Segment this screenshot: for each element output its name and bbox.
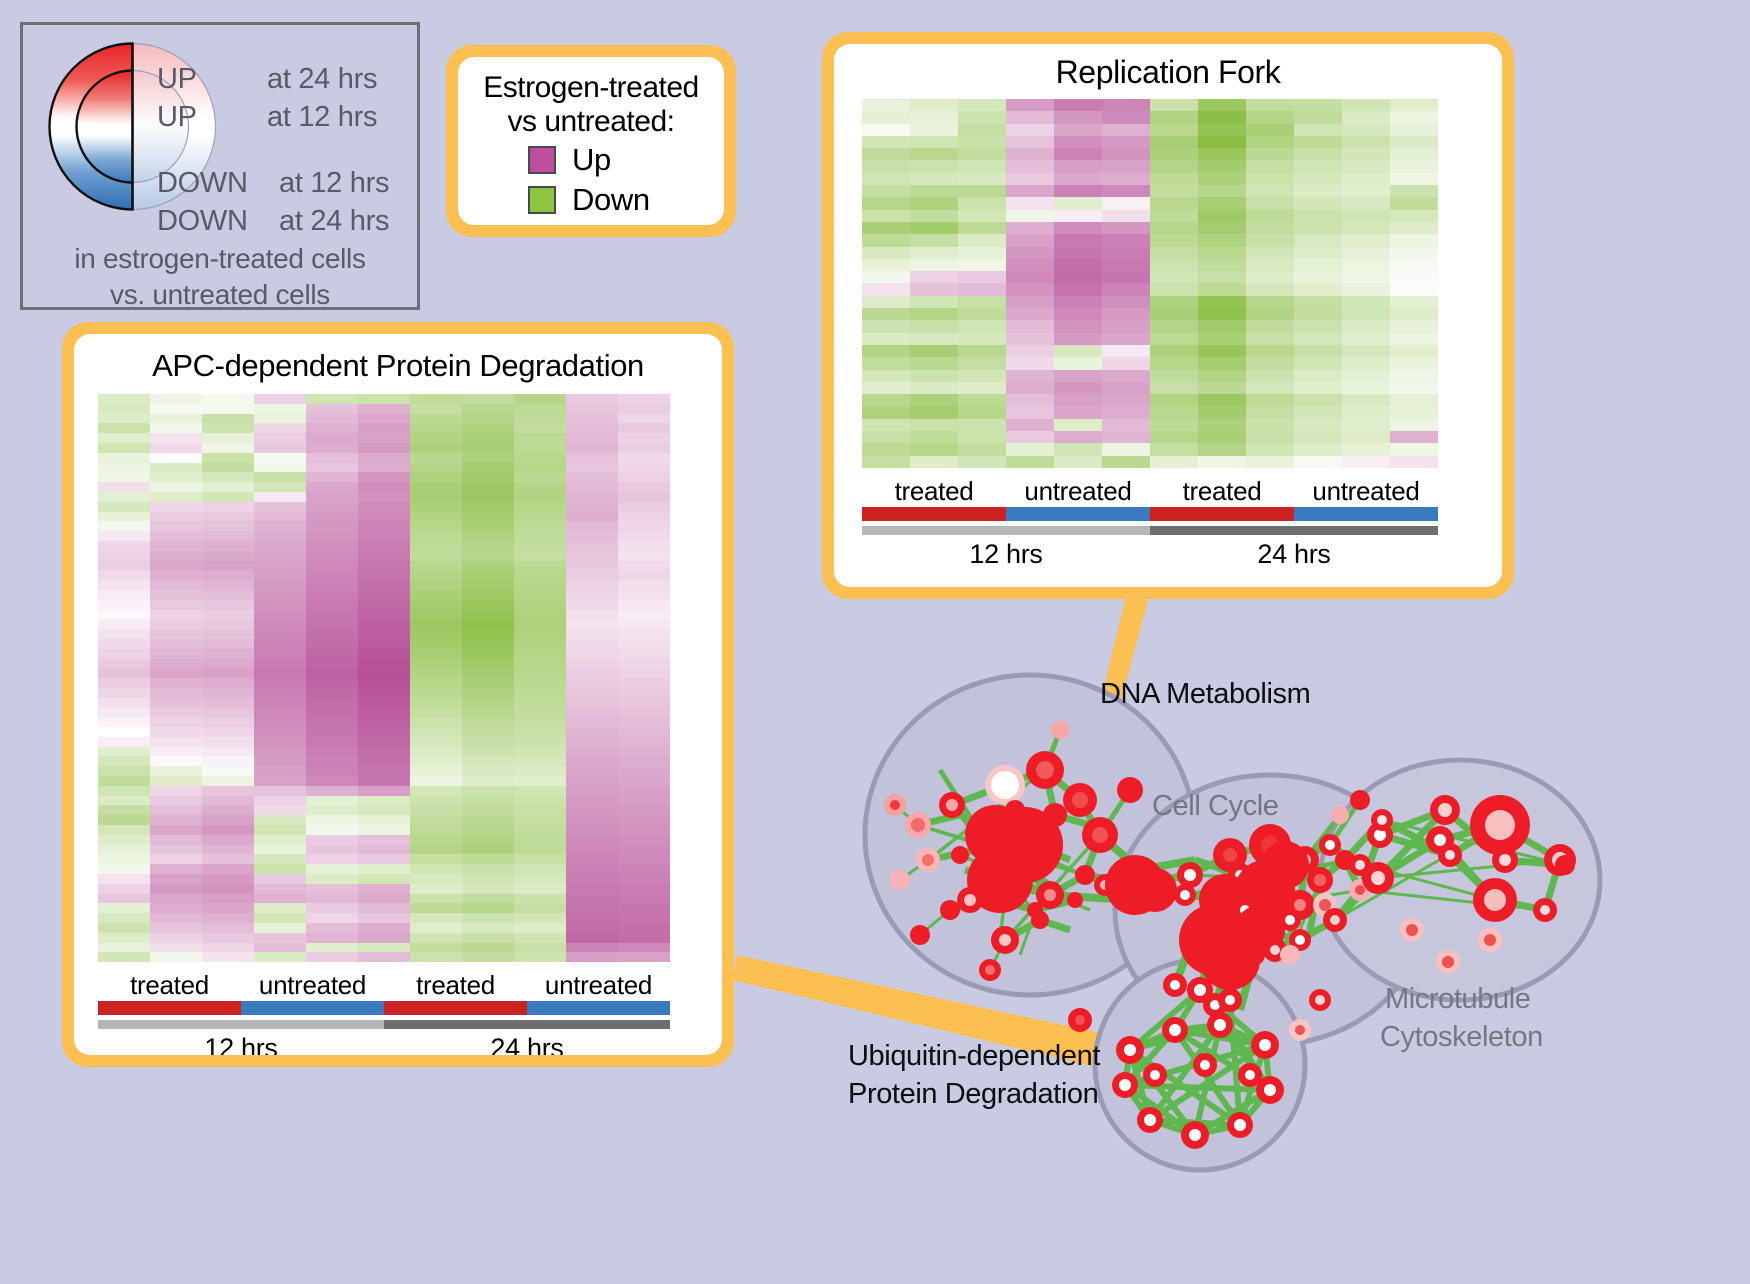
cluster-label-cell-cycle: Cell Cycle [1152,790,1279,823]
cluster-label-ubiquitin-line1: Ubiquitin-dependent [848,1040,1100,1073]
cluster-label-dna-metabolism: DNA Metabolism [1100,678,1310,711]
cluster-label-microtubule-line2: Cytoskeleton [1380,1020,1543,1054]
cluster-label-ubiquitin-line2: Protein Degradation [848,1078,1098,1111]
network-diagram: DNA Metabolism Cell Cycle Microtubule Cy… [800,610,1750,1279]
cluster-label-microtubule-line1: Microtubule [1385,982,1531,1016]
